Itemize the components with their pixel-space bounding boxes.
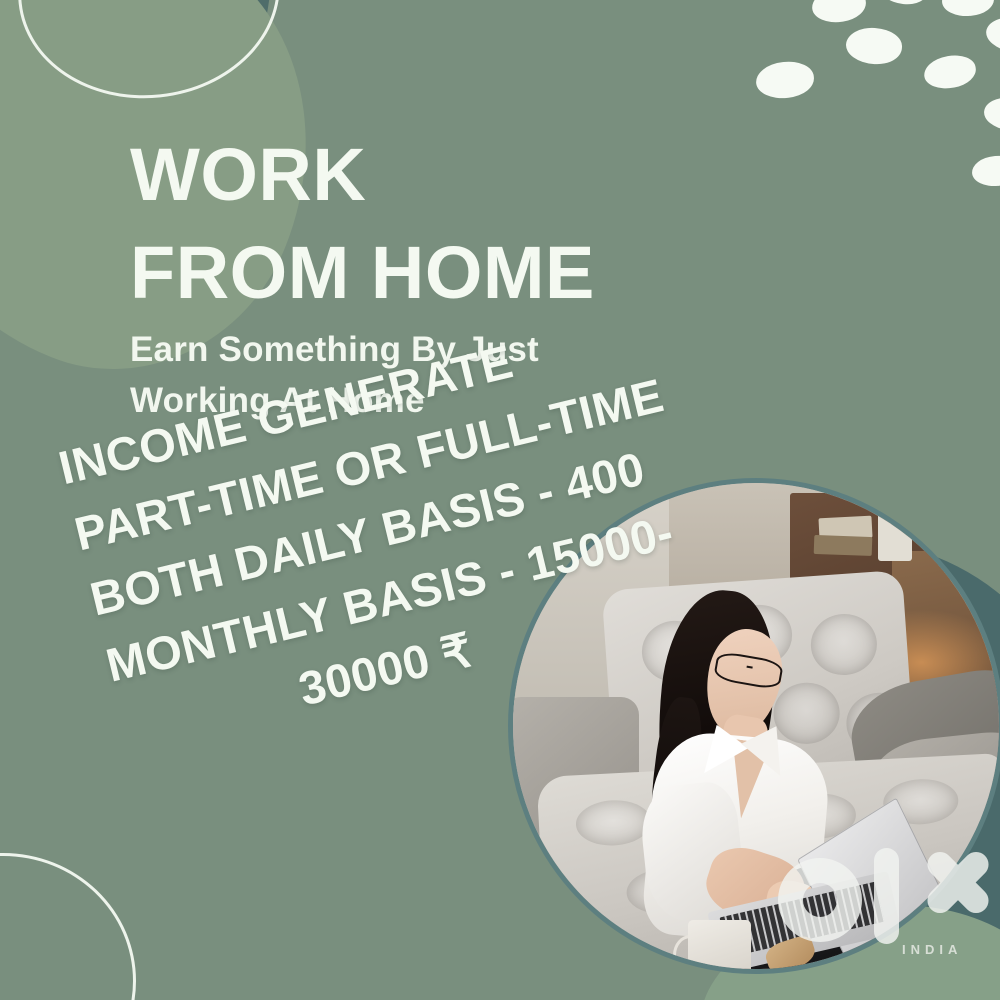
dot-shape <box>922 52 979 93</box>
headline-line-1: WORK <box>130 133 366 216</box>
dot-shape <box>941 0 995 18</box>
olx-region-label: INDIA <box>902 942 962 957</box>
olx-letter-l-icon <box>874 848 899 944</box>
dot-shape <box>754 59 815 101</box>
olx-watermark: INDIA <box>770 842 990 972</box>
dot-shape <box>971 154 1000 188</box>
dot-shape <box>845 26 903 66</box>
dot-shape <box>810 0 868 26</box>
page-title: WORK FROM HOME <box>130 126 595 321</box>
olx-letter-o-icon <box>778 858 862 942</box>
headline-line-2: FROM HOME <box>130 224 595 322</box>
bottom-left-ring-outline <box>0 853 136 1000</box>
dot-shape <box>982 95 1000 133</box>
dot-shape <box>879 0 930 6</box>
dot-cluster-decoration <box>760 0 1000 280</box>
poster-canvas: WORK FROM HOME Earn Something By Just Wo… <box>0 0 1000 1000</box>
dot-shape <box>984 14 1000 56</box>
